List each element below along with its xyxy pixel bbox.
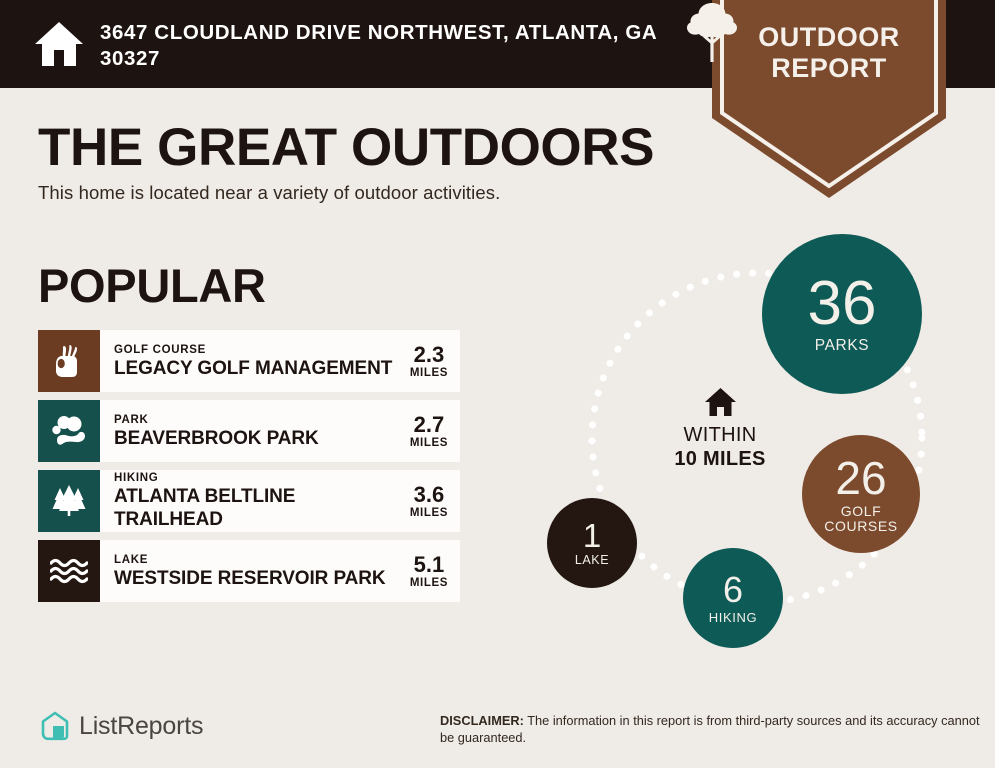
pine-trees-icon <box>38 470 100 532</box>
list-item[interactable]: PARK BEAVERBROOK PARK 2.7 MILES <box>38 400 460 462</box>
list-item-distance: 2.3 MILES <box>402 343 448 380</box>
distance-unit: MILES <box>410 436 448 450</box>
bubble-hiking-label: HIKING <box>709 611 757 625</box>
badge-line-1: OUTDOOR <box>712 22 946 53</box>
popular-list: GOLF COURSE LEGACY GOLF MANAGEMENT 2.3 M… <box>38 330 460 610</box>
list-item-distance: 5.1 MILES <box>402 553 448 590</box>
distance-value: 2.7 <box>410 413 448 436</box>
list-item[interactable]: LAKE WESTSIDE RESERVOIR PARK 5.1 MILES <box>38 540 460 602</box>
distance-unit: MILES <box>410 576 448 590</box>
distance-value: 3.6 <box>410 483 448 506</box>
list-item-category: LAKE <box>114 553 402 567</box>
badge-title: OUTDOOR REPORT <box>712 22 946 84</box>
page-subtitle: This home is located near a variety of o… <box>38 182 500 204</box>
waves-icon <box>38 540 100 602</box>
list-item-name: LEGACY GOLF MANAGEMENT <box>114 357 402 380</box>
within-10-miles-chart: 36 PARKS 26 GOLF COURSES 1 LAKE 6 HIKING… <box>520 220 995 660</box>
distance-value: 5.1 <box>410 553 448 576</box>
bubble-parks-label: PARKS <box>815 338 869 354</box>
list-item-name: BEAVERBROOK PARK <box>114 427 402 450</box>
bubble-lake-value: 1 <box>583 519 601 552</box>
list-item-category: GOLF COURSE <box>114 343 402 357</box>
list-item-body: PARK BEAVERBROOK PARK 2.7 MILES <box>100 400 460 462</box>
outdoor-report-badge: OUTDOOR REPORT <box>712 0 946 198</box>
listreports-logo[interactable]: ListReports <box>40 710 203 742</box>
property-address: 3647 CLOUDLAND DRIVE NORTHWEST, ATLANTA,… <box>100 20 680 72</box>
park-tree-path-icon <box>38 400 100 462</box>
home-icon <box>34 20 84 68</box>
list-item[interactable]: GOLF COURSE LEGACY GOLF MANAGEMENT 2.3 M… <box>38 330 460 392</box>
distance-unit: MILES <box>410 366 448 380</box>
bubble-lake[interactable]: 1 LAKE <box>547 498 637 588</box>
list-item-body: HIKING ATLANTA BELTLINE TRAILHEAD 3.6 MI… <box>100 470 460 532</box>
tree-icon <box>684 0 740 64</box>
listreports-house-icon <box>40 710 70 742</box>
bubble-hiking[interactable]: 6 HIKING <box>683 548 783 648</box>
distance-unit: MILES <box>410 506 448 520</box>
bubble-parks[interactable]: 36 PARKS <box>762 234 922 394</box>
disclaimer: DISCLAIMER: The information in this repo… <box>440 712 980 746</box>
center-label-line-1: WITHIN <box>650 423 790 447</box>
list-item-name: WESTSIDE RESERVOIR PARK <box>114 567 402 590</box>
golf-bag-icon <box>38 330 100 392</box>
list-item-name: ATLANTA BELTLINE TRAILHEAD <box>114 485 402 531</box>
list-item-category: PARK <box>114 413 402 427</box>
bubble-golf-value: 26 <box>835 455 886 501</box>
list-item-category: HIKING <box>114 471 402 485</box>
bubble-golf-courses[interactable]: 26 GOLF COURSES <box>802 435 920 553</box>
center-label-line-2: 10 MILES <box>650 447 790 471</box>
list-item-body: GOLF COURSE LEGACY GOLF MANAGEMENT 2.3 M… <box>100 330 460 392</box>
bubble-lake-label: LAKE <box>575 554 609 567</box>
bubble-parks-value: 36 <box>808 273 877 335</box>
bubble-hiking-value: 6 <box>723 572 743 608</box>
listreports-logo-text: ListReports <box>79 712 203 741</box>
home-icon <box>704 387 737 417</box>
list-item-body: LAKE WESTSIDE RESERVOIR PARK 5.1 MILES <box>100 540 460 602</box>
bubble-golf-label-2: COURSES <box>824 519 897 534</box>
list-item-distance: 2.7 MILES <box>402 413 448 450</box>
outdoor-report-page: 3647 CLOUDLAND DRIVE NORTHWEST, ATLANTA,… <box>0 0 995 768</box>
page-title: THE GREAT OUTDOORS <box>38 118 654 178</box>
distance-value: 2.3 <box>410 343 448 366</box>
chart-center-label: WITHIN 10 MILES <box>650 387 790 471</box>
disclaimer-label: DISCLAIMER: <box>440 713 524 728</box>
list-item-distance: 3.6 MILES <box>402 483 448 520</box>
badge-line-2: REPORT <box>712 53 946 84</box>
bubble-golf-label-1: GOLF <box>841 504 882 519</box>
popular-heading: POPULAR <box>38 258 266 313</box>
list-item[interactable]: HIKING ATLANTA BELTLINE TRAILHEAD 3.6 MI… <box>38 470 460 532</box>
